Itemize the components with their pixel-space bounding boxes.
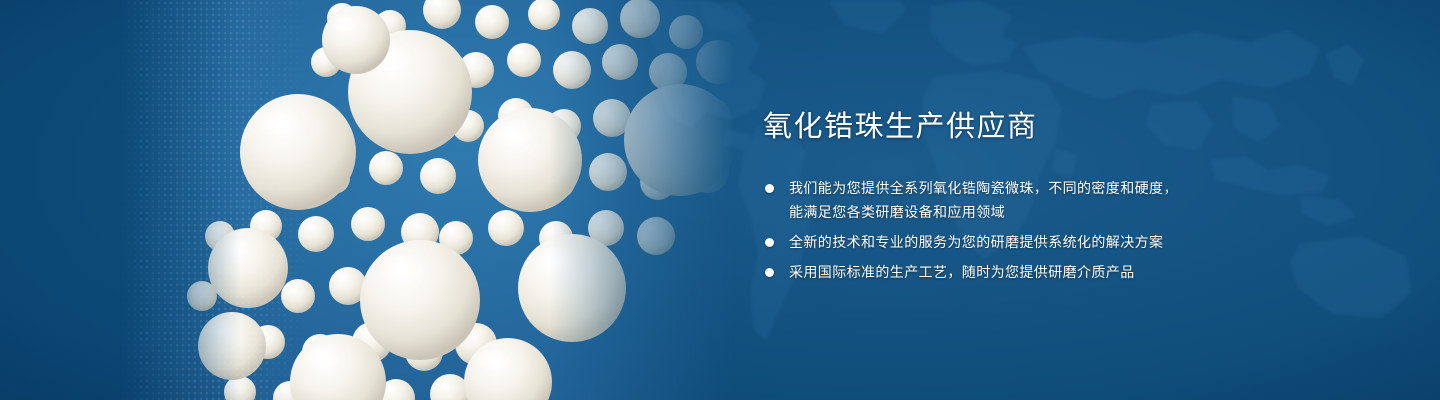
banner-feature-list: 我们能为您提供全系列氧化锆陶瓷微珠，不同的密度和硬度， 能满足您各类研磨设备和应… bbox=[763, 176, 1363, 284]
bullet-dot-icon bbox=[765, 268, 774, 277]
zirconia-beads-photo bbox=[120, 0, 740, 400]
banner-copy: 氧化锆珠生产供应商 我们能为您提供全系列氧化锆陶瓷微珠，不同的密度和硬度， 能满… bbox=[763, 108, 1363, 284]
bullet-dot-icon bbox=[765, 184, 774, 193]
feature-line: 我们能为您提供全系列氧化锆陶瓷微珠，不同的密度和硬度， bbox=[789, 176, 1363, 200]
feature-line: 采用国际标准的生产工艺，随时为您提供研磨介质产品 bbox=[789, 260, 1363, 284]
feature-item: 全新的技术和专业的服务为您的研磨提供系统化的解决方案 bbox=[763, 230, 1363, 254]
feature-line: 能满足您各类研磨设备和应用领域 bbox=[789, 200, 1363, 224]
feature-item: 我们能为您提供全系列氧化锆陶瓷微珠，不同的密度和硬度， 能满足您各类研磨设备和应… bbox=[763, 176, 1363, 224]
bullet-dot-icon bbox=[765, 238, 774, 247]
hero-banner: 氧化锆珠生产供应商 我们能为您提供全系列氧化锆陶瓷微珠，不同的密度和硬度， 能满… bbox=[0, 0, 1440, 400]
feature-line: 全新的技术和专业的服务为您的研磨提供系统化的解决方案 bbox=[789, 230, 1363, 254]
beads-cluster bbox=[120, 0, 740, 400]
feature-item: 采用国际标准的生产工艺，随时为您提供研磨介质产品 bbox=[763, 260, 1363, 284]
banner-headline: 氧化锆珠生产供应商 bbox=[763, 108, 1363, 146]
